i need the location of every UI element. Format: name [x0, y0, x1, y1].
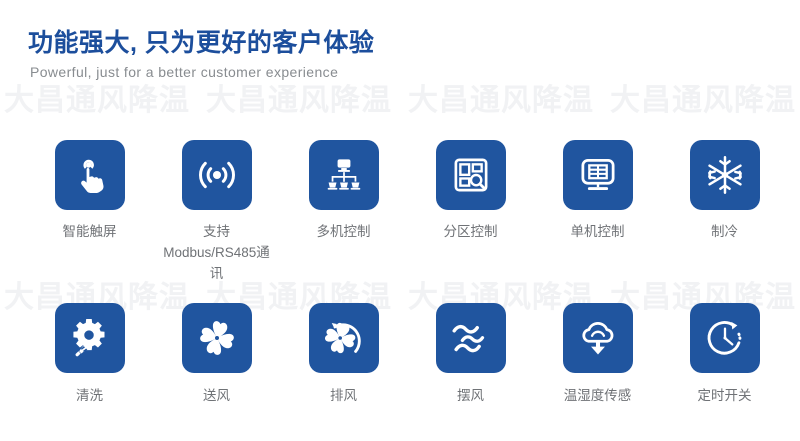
feature-label: 多机控制 — [317, 222, 371, 243]
feature-item-touch-screen[interactable]: 智能触屏 — [26, 140, 153, 285]
gear-brush-icon — [68, 316, 112, 360]
feature-icon-tile — [55, 303, 125, 373]
feature-label: 摆风 — [457, 386, 484, 407]
page-subtitle: Powerful, just for a better customer exp… — [30, 64, 374, 80]
feature-icon-tile — [436, 303, 506, 373]
feature-label: 单机控制 — [571, 222, 625, 243]
touch-screen-icon — [69, 154, 111, 196]
feature-item-exhaust[interactable]: 排风 — [280, 303, 407, 407]
feature-icon-tile — [563, 140, 633, 210]
feature-item-air-supply[interactable]: 送风 — [153, 303, 280, 407]
monitor-icon — [576, 153, 620, 197]
wireless-signal-icon — [194, 152, 240, 198]
feature-item-swing-wind[interactable]: 摆风 — [407, 303, 534, 407]
feature-icon-tile — [563, 303, 633, 373]
cloud-down-arrow-icon — [576, 316, 620, 360]
watermark-text: 大昌通风降温 — [408, 86, 594, 116]
feature-item-timer-switch[interactable]: 定时开关 — [661, 303, 788, 407]
feature-row-1: 智能触屏 支持Modbus/RS485通讯 — [0, 140, 800, 285]
feature-highlights-page: 大昌通风降温 大昌通风降温 大昌通风降温 大昌通风降温 大昌通风降温 大昌通风降… — [0, 0, 800, 441]
watermark-text: 大昌通风降温 — [206, 86, 392, 116]
snowflake-icon — [702, 152, 748, 198]
feature-icon-tile — [182, 303, 252, 373]
feature-label: 清洗 — [76, 386, 103, 407]
feature-icon-tile — [690, 303, 760, 373]
feature-icon-tile — [182, 140, 252, 210]
fan-blade-icon — [194, 315, 240, 361]
feature-item-multi-machine-control[interactable]: 多机控制 — [280, 140, 407, 285]
feature-icon-tile — [309, 140, 379, 210]
feature-icon-tile — [690, 140, 760, 210]
feature-icon-tile — [309, 303, 379, 373]
feature-item-cooling[interactable]: 制冷 — [661, 140, 788, 285]
zone-grid-search-icon — [449, 153, 493, 197]
feature-label: 分区控制 — [444, 222, 498, 243]
watermark-text: 大昌通风降温 — [610, 86, 796, 116]
feature-item-cleaning[interactable]: 清洗 — [26, 303, 153, 407]
feature-row-2: 清洗 — [0, 303, 800, 407]
page-title: 功能强大, 只为更好的客户体验 — [28, 28, 374, 58]
feature-label: 制冷 — [711, 222, 738, 243]
feature-item-zone-control[interactable]: 分区控制 — [407, 140, 534, 285]
feature-item-temp-humidity-sensor[interactable]: 温湿度传感 — [534, 303, 661, 407]
feature-icon-tile — [55, 140, 125, 210]
wave-lines-icon — [448, 315, 494, 361]
feature-label: 支持Modbus/RS485通讯 — [158, 222, 276, 285]
feature-label: 智能触屏 — [63, 222, 117, 243]
watermark-row-top: 大昌通风降温 大昌通风降温 大昌通风降温 大昌通风降温 — [0, 86, 800, 116]
page-header: 功能强大, 只为更好的客户体验 Powerful, just for a bet… — [28, 28, 374, 80]
feature-label: 温湿度传感 — [564, 386, 632, 407]
network-tree-icon — [322, 153, 366, 197]
feature-item-single-machine-control[interactable]: 单机控制 — [534, 140, 661, 285]
feature-label: 定时开关 — [698, 386, 752, 407]
feature-icon-tile — [436, 140, 506, 210]
fan-exhaust-arrow-icon — [321, 315, 367, 361]
watermark-text: 大昌通风降温 — [4, 86, 190, 116]
feature-label: 送风 — [203, 386, 230, 407]
feature-label: 排风 — [330, 386, 357, 407]
clock-timer-icon — [702, 315, 748, 361]
feature-item-modbus-rs485[interactable]: 支持Modbus/RS485通讯 — [153, 140, 280, 285]
